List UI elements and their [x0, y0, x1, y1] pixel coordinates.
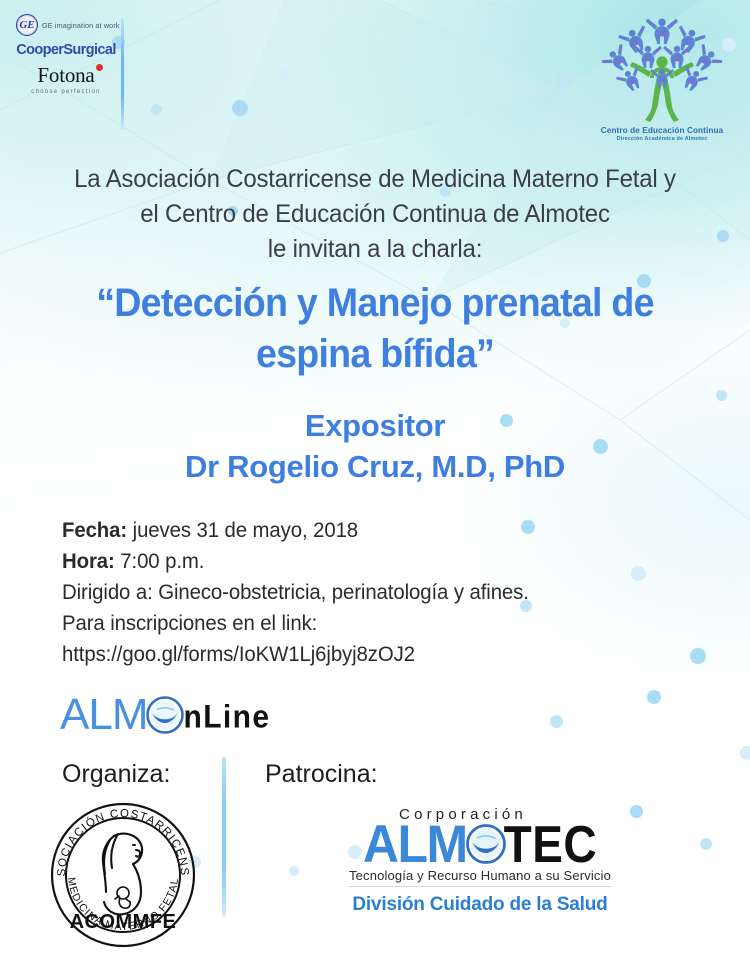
fotona-name: Fotona — [37, 63, 94, 87]
intro-line-1: La Asociación Costarricense de Medicina … — [15, 162, 735, 197]
almotec-black-text: TEC — [504, 819, 598, 868]
bokeh-dot — [550, 715, 563, 728]
patrocina-label: Patrocina: — [265, 760, 378, 789]
bokeh-dot — [716, 390, 727, 401]
event-details: Fecha: jueves 31 de mayo, 2018 Hora: 7:0… — [62, 515, 543, 670]
cec-subtitle: Dirección Académica de Almotec — [582, 136, 742, 142]
bokeh-dot — [630, 805, 643, 818]
coopersurgical-logo: CooperSurgical — [12, 42, 120, 58]
cec-title: Centro de Educación Continua — [582, 126, 742, 135]
almotec-blue-text: ALM — [363, 820, 467, 868]
acommfe-acronym: ACOMMFE — [70, 911, 177, 933]
footer-divider — [222, 757, 226, 917]
detail-hora: Hora: 7:00 p.m. — [62, 546, 529, 577]
sponsor-logos: GE GE imagination at work CooperSurgical… — [12, 14, 120, 95]
bokeh-dot — [740, 746, 750, 760]
bokeh-dot — [700, 838, 712, 850]
almotec-swirl-icon — [144, 694, 186, 736]
almotec-logo: Corporación ALM TEC Tecnología y Recurso… — [330, 806, 630, 916]
almotec-wordmark: ALM TEC — [330, 821, 630, 867]
sponsor-divider — [121, 18, 124, 130]
ge-tagline: GE imagination at work — [42, 21, 120, 30]
talk-title-line-2: espina bífida” — [51, 329, 700, 380]
bokeh-dot — [232, 100, 248, 116]
bokeh-dot — [690, 648, 706, 664]
bokeh-dot — [631, 566, 646, 581]
talk-title-line-1: “Detección y Manejo prenatal de — [51, 278, 700, 329]
people-tree-icon — [582, 6, 742, 128]
cec-logo: Centro de Educación Continua Dirección A… — [582, 6, 742, 142]
almonline-logo: ALM nLine — [60, 688, 270, 736]
svg-text:ASOCIACIÓN COSTARRICENSE: ASOCIACIÓN COSTARRICENSE — [48, 800, 190, 877]
detail-fecha: Fecha: jueves 31 de mayo, 2018 — [62, 515, 529, 546]
acommfe-top-arc: ASOCIACIÓN COSTARRICENSE — [48, 800, 190, 877]
intro-text: La Asociación Costarricense de Medicina … — [0, 162, 750, 267]
detail-inscripciones: Para inscripciones en el link: — [62, 608, 529, 639]
fotona-tagline: choose perfection — [12, 89, 120, 95]
bokeh-dot — [279, 68, 291, 80]
acommfe-seal-icon: ASOCIACIÓN COSTARRICENSE MEDICINA MATERN… — [48, 800, 198, 950]
registration-link[interactable]: https://goo.gl/forms/IoKW1Lj6jbyj8zOJ2 — [62, 639, 529, 670]
fotona-wordmark: Fotona — [37, 63, 94, 88]
almonline-black-text: nLine — [183, 699, 270, 738]
bokeh-dot — [647, 690, 661, 704]
bokeh-dot — [151, 104, 162, 115]
ge-monogram-icon: GE — [16, 14, 38, 36]
detail-dirigido: Dirigido a: Gineco-obstetricia, perinato… — [62, 577, 529, 608]
acommfe-logo: ASOCIACIÓN COSTARRICENSE MEDICINA MATERN… — [48, 800, 198, 955]
bokeh-dot — [289, 866, 299, 876]
bokeh-dot — [556, 72, 573, 89]
almotec-division: División Cuidado de la Salud — [330, 894, 630, 916]
hora-label: Hora: — [62, 550, 115, 573]
hora-value: 7:00 p.m. — [115, 550, 205, 573]
fotona-logo: Fotona choose perfection — [12, 63, 120, 95]
almotec-swirl-icon — [464, 822, 508, 866]
organiza-label: Organiza: — [62, 760, 170, 789]
speaker-block: Expositor Dr Rogelio Cruz, M.D, PhD — [0, 406, 750, 487]
speaker-heading: Expositor — [0, 406, 750, 446]
ge-logo: GE GE imagination at work — [16, 14, 120, 36]
intro-line-2: el Centro de Educación Continua de Almot… — [15, 197, 735, 232]
intro-line-3: le invitan a la charla: — [15, 232, 735, 267]
speaker-name: Dr Rogelio Cruz, M.D, PhD — [0, 446, 750, 487]
almonline-blue-text: ALM — [60, 694, 147, 736]
fecha-value: jueves 31 de mayo, 2018 — [127, 519, 358, 542]
fotona-dot-icon — [96, 64, 103, 71]
talk-title: “Detección y Manejo prenatal de espina b… — [30, 278, 720, 380]
fecha-label: Fecha: — [62, 519, 127, 542]
event-flyer: GE GE imagination at work CooperSurgical… — [0, 0, 750, 959]
